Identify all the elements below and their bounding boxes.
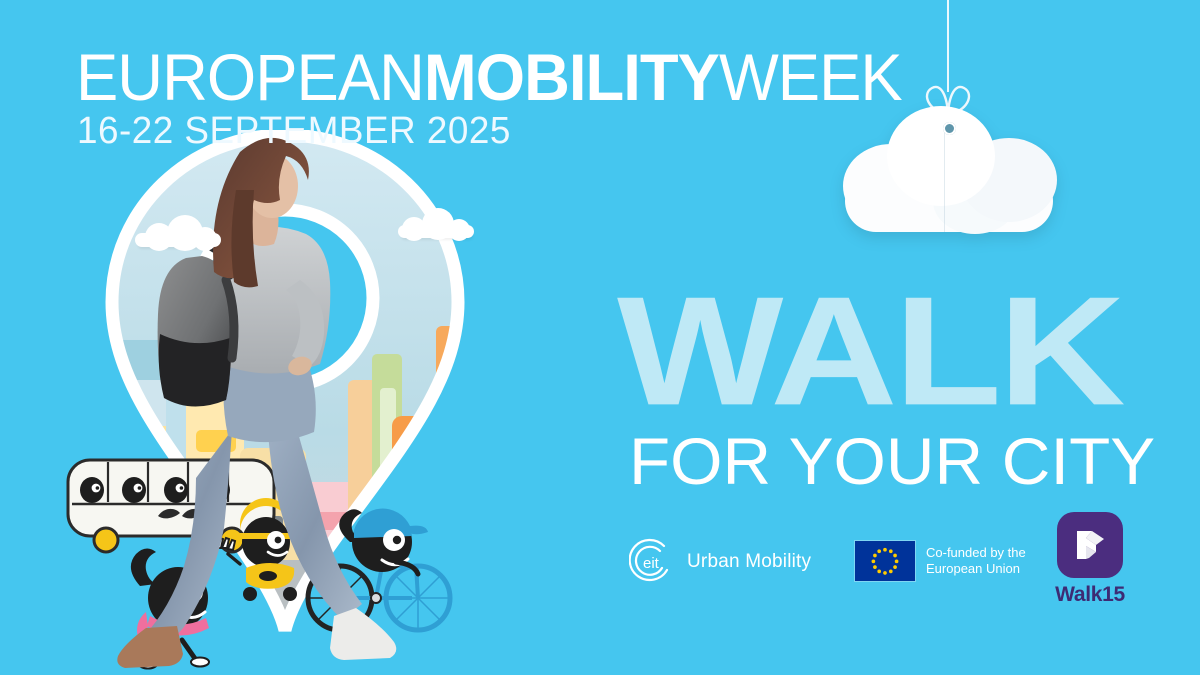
event-dates: 16-22 SEPTEMBER 2025	[77, 112, 511, 150]
walk15-badge-icon	[1057, 512, 1123, 578]
eu-flag-icon	[854, 540, 916, 582]
logo-co-funded-eu[interactable]: Co-funded by the European Union	[854, 540, 1026, 582]
tag-eyelet-icon	[943, 122, 956, 135]
logo-eit-urban-mobility[interactable]: eit Urban Mobility	[629, 538, 811, 585]
cloud-small-left	[135, 215, 221, 249]
eu-label-line1: Co-funded by the	[926, 545, 1026, 561]
emw-banner: EUROPEANMOBILITYWEEK 16-22 SEPTEMBER 202…	[0, 0, 1200, 675]
tag-string	[947, 0, 949, 92]
walk15-label: Walk15	[1040, 583, 1140, 607]
logo-walk15[interactable]: Walk15	[1040, 512, 1140, 607]
eu-label: Co-funded by the European Union	[926, 545, 1026, 578]
page-title: EUROPEANMOBILITYWEEK	[76, 44, 902, 110]
city-pin-illustration	[0, 130, 560, 675]
eu-label-line2: European Union	[926, 561, 1026, 577]
cloud-tag	[841, 104, 1057, 234]
title-european: EUROPEAN	[76, 40, 424, 114]
headline-main: WALK	[617, 281, 1122, 424]
eit-label: Urban Mobility	[687, 551, 811, 573]
logo-row: eit Urban Mobility	[617, 512, 1177, 608]
title-mobility: MOBILITY	[424, 40, 719, 114]
svg-text:eit: eit	[643, 555, 660, 572]
headline-sub: FOR YOUR CITY	[629, 428, 1155, 494]
title-week: WEEK	[719, 40, 902, 114]
eit-circle-icon: eit	[629, 538, 676, 585]
cloud-small-mid	[398, 208, 474, 240]
